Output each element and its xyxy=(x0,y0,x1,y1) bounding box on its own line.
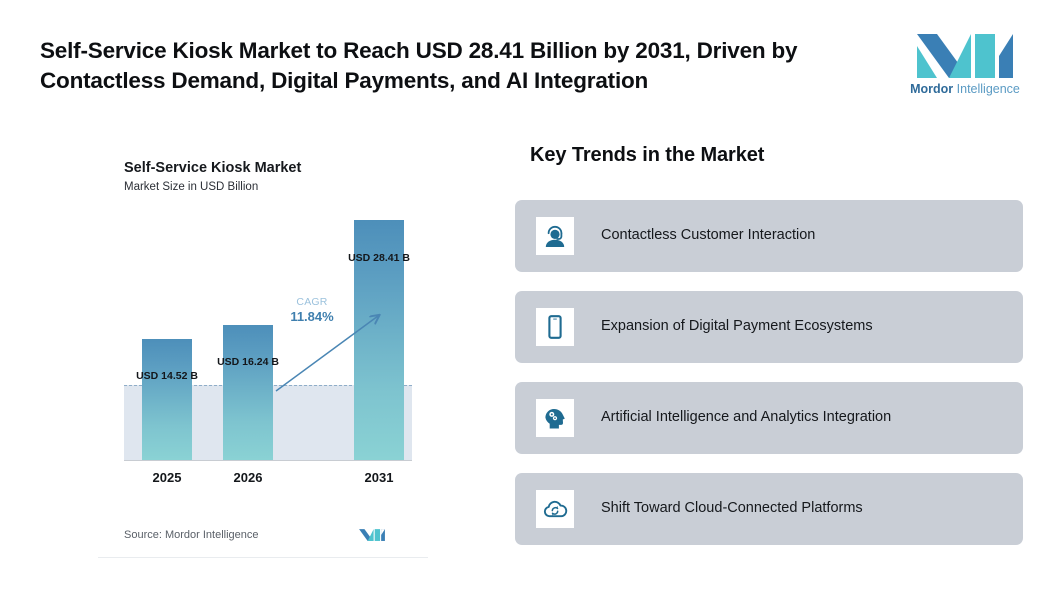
growth-arrow-icon xyxy=(274,308,394,394)
chart-title: Self-Service Kiosk Market xyxy=(124,160,301,176)
trend-label: Shift Toward Cloud-Connected Platforms xyxy=(601,498,863,519)
trend-card-contactless[interactable]: Contactless Customer Interaction xyxy=(515,200,1023,272)
bar-2026 xyxy=(223,325,273,460)
mordor-mark-icon xyxy=(913,28,1017,80)
page-header: Self-Service Kiosk Market to Reach USD 2… xyxy=(0,0,1060,120)
cloud-sync-icon xyxy=(536,490,574,528)
smartphone-icon xyxy=(536,308,574,346)
brand-word-bold: Mordor xyxy=(910,82,953,96)
bar-2025 xyxy=(142,339,192,460)
page-title: Self-Service Kiosk Market to Reach USD 2… xyxy=(40,36,880,95)
bar-label-2025: USD 14.52 B xyxy=(117,370,217,382)
mordor-intelligence-logo: Mordor Intelligence xyxy=(900,28,1030,106)
market-size-chart-panel: Self-Service Kiosk Market Market Size in… xyxy=(98,140,428,558)
brand-wordmark: Mordor Intelligence xyxy=(900,82,1030,96)
x-tick-2026: 2026 xyxy=(218,470,278,485)
trend-card-digital-payments[interactable]: Expansion of Digital Payment Ecosystems xyxy=(515,291,1023,363)
bar-label-2031: USD 28.41 B xyxy=(329,252,429,264)
key-trends-heading: Key Trends in the Market xyxy=(530,144,764,167)
ai-head-gears-icon xyxy=(536,399,574,437)
trend-card-ai-analytics[interactable]: Artificial Intelligence and Analytics In… xyxy=(515,382,1023,454)
chart-plot-area: USD 14.52 B 2025 USD 16.24 B 2026 USD 28… xyxy=(124,212,412,487)
chart-source-text: Source: Mordor Intelligence xyxy=(124,529,259,541)
chart-x-axis-line xyxy=(124,460,412,461)
trend-card-cloud-platforms[interactable]: Shift Toward Cloud-Connected Platforms xyxy=(515,473,1023,545)
brand-word-light: Intelligence xyxy=(957,82,1020,96)
trend-label: Artificial Intelligence and Analytics In… xyxy=(601,407,891,428)
trend-label: Contactless Customer Interaction xyxy=(601,225,815,246)
chart-subtitle: Market Size in USD Billion xyxy=(124,181,258,193)
key-trends-list: Contactless Customer Interaction Expansi… xyxy=(515,200,1023,564)
headset-agent-icon xyxy=(536,217,574,255)
x-tick-2025: 2025 xyxy=(137,470,197,485)
trend-label: Expansion of Digital Payment Ecosystems xyxy=(601,316,873,337)
cagr-label: CAGR xyxy=(276,296,348,308)
mordor-mark-icon xyxy=(358,526,386,543)
x-tick-2031: 2031 xyxy=(349,470,409,485)
